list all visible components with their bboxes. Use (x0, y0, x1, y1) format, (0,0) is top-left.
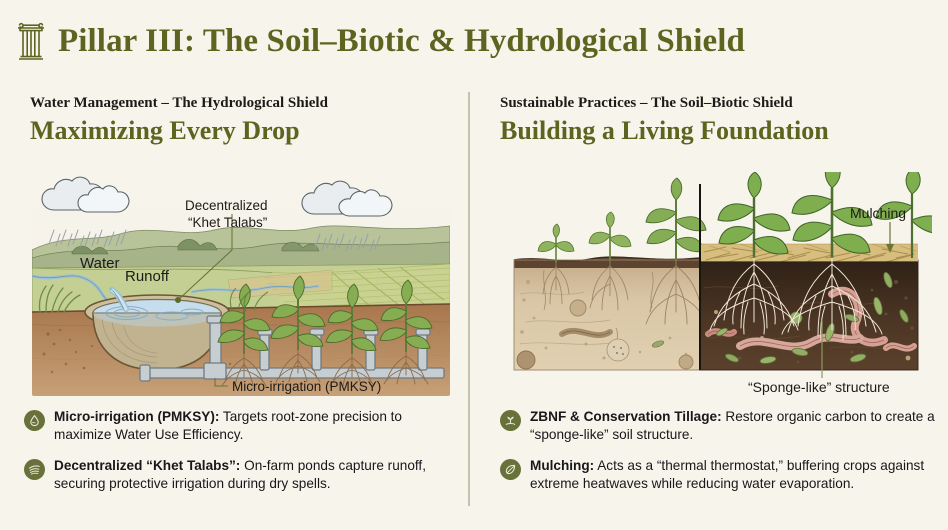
right-kicker: Sustainable Practices – The Soil–Biotic … (500, 94, 932, 113)
illus-label-water-runoff-line2: Runoff (125, 268, 170, 285)
rainwater-harvesting-khet-talab-diagram: Water Runoff Decentralized “Khet Talabs”… (32, 172, 450, 396)
bullet-zbnf-tillage: ZBNF & Conservation Tillage: Restore org… (500, 408, 936, 445)
right-headline: Building a Living Foundation (500, 115, 932, 146)
bullet-micro-irrigation: Micro-irrigation (PMKSY): Targets root-z… (24, 408, 454, 445)
left-bullet-list: Micro-irrigation (PMKSY): Targets root-z… (24, 408, 454, 505)
illus-label-sponge-structure: “Sponge-like” structure (748, 379, 890, 395)
bullet-micro-irrigation-lead: Micro-irrigation (PMKSY): (54, 409, 219, 424)
bullet-zbnf-tillage-lead: ZBNF & Conservation Tillage: (530, 409, 722, 424)
bullet-mulching: Mulching: Acts as a “thermal thermostat,… (500, 457, 936, 494)
illus-label-water-runoff-line1: Water (80, 255, 119, 272)
illus-label-micro-irrigation: Micro-irrigation (PMKSY) (232, 379, 381, 394)
leaf-icon (500, 459, 521, 480)
column-divider (468, 92, 470, 506)
left-kicker: Water Management – The Hydrological Shie… (30, 94, 454, 113)
pillar-column-icon (14, 18, 48, 64)
sprout-icon (500, 410, 521, 431)
column-right-heading-block: Sustainable Practices – The Soil–Biotic … (500, 94, 932, 146)
illus-label-mulching: Mulching (850, 205, 906, 221)
header: Pillar III: The Soil–Biotic & Hydrologic… (14, 18, 745, 64)
bullet-khet-talabs: Decentralized “Khet Talabs”: On-farm pon… (24, 457, 454, 494)
bullet-mulching-text: Mulching: Acts as a “thermal thermostat,… (530, 457, 936, 494)
illus-label-khet-talabs-line2: “Khet Talabs” (188, 215, 267, 230)
water-drop-icon (24, 410, 45, 431)
bullet-khet-talabs-text: Decentralized “Khet Talabs”: On-farm pon… (54, 457, 454, 494)
column-left-heading-block: Water Management – The Hydrological Shie… (30, 94, 454, 146)
left-headline: Maximizing Every Drop (30, 115, 454, 146)
page-title: Pillar III: The Soil–Biotic & Hydrologic… (58, 25, 745, 58)
illus-label-khet-talabs-line1: Decentralized (185, 198, 268, 213)
infographic-page: Pillar III: The Soil–Biotic & Hydrologic… (0, 0, 948, 530)
bullet-khet-talabs-lead: Decentralized “Khet Talabs”: (54, 458, 240, 473)
right-bullet-list: ZBNF & Conservation Tillage: Restore org… (500, 408, 936, 505)
soil-comparison-degraded-vs-living-diagram: Mulching “Sponge-like” structure (500, 172, 932, 396)
bullet-zbnf-tillage-text: ZBNF & Conservation Tillage: Restore org… (530, 408, 936, 445)
bullet-micro-irrigation-text: Micro-irrigation (PMKSY): Targets root-z… (54, 408, 454, 445)
bullet-mulching-lead: Mulching: (530, 458, 594, 473)
pond-ripple-icon (24, 459, 45, 480)
